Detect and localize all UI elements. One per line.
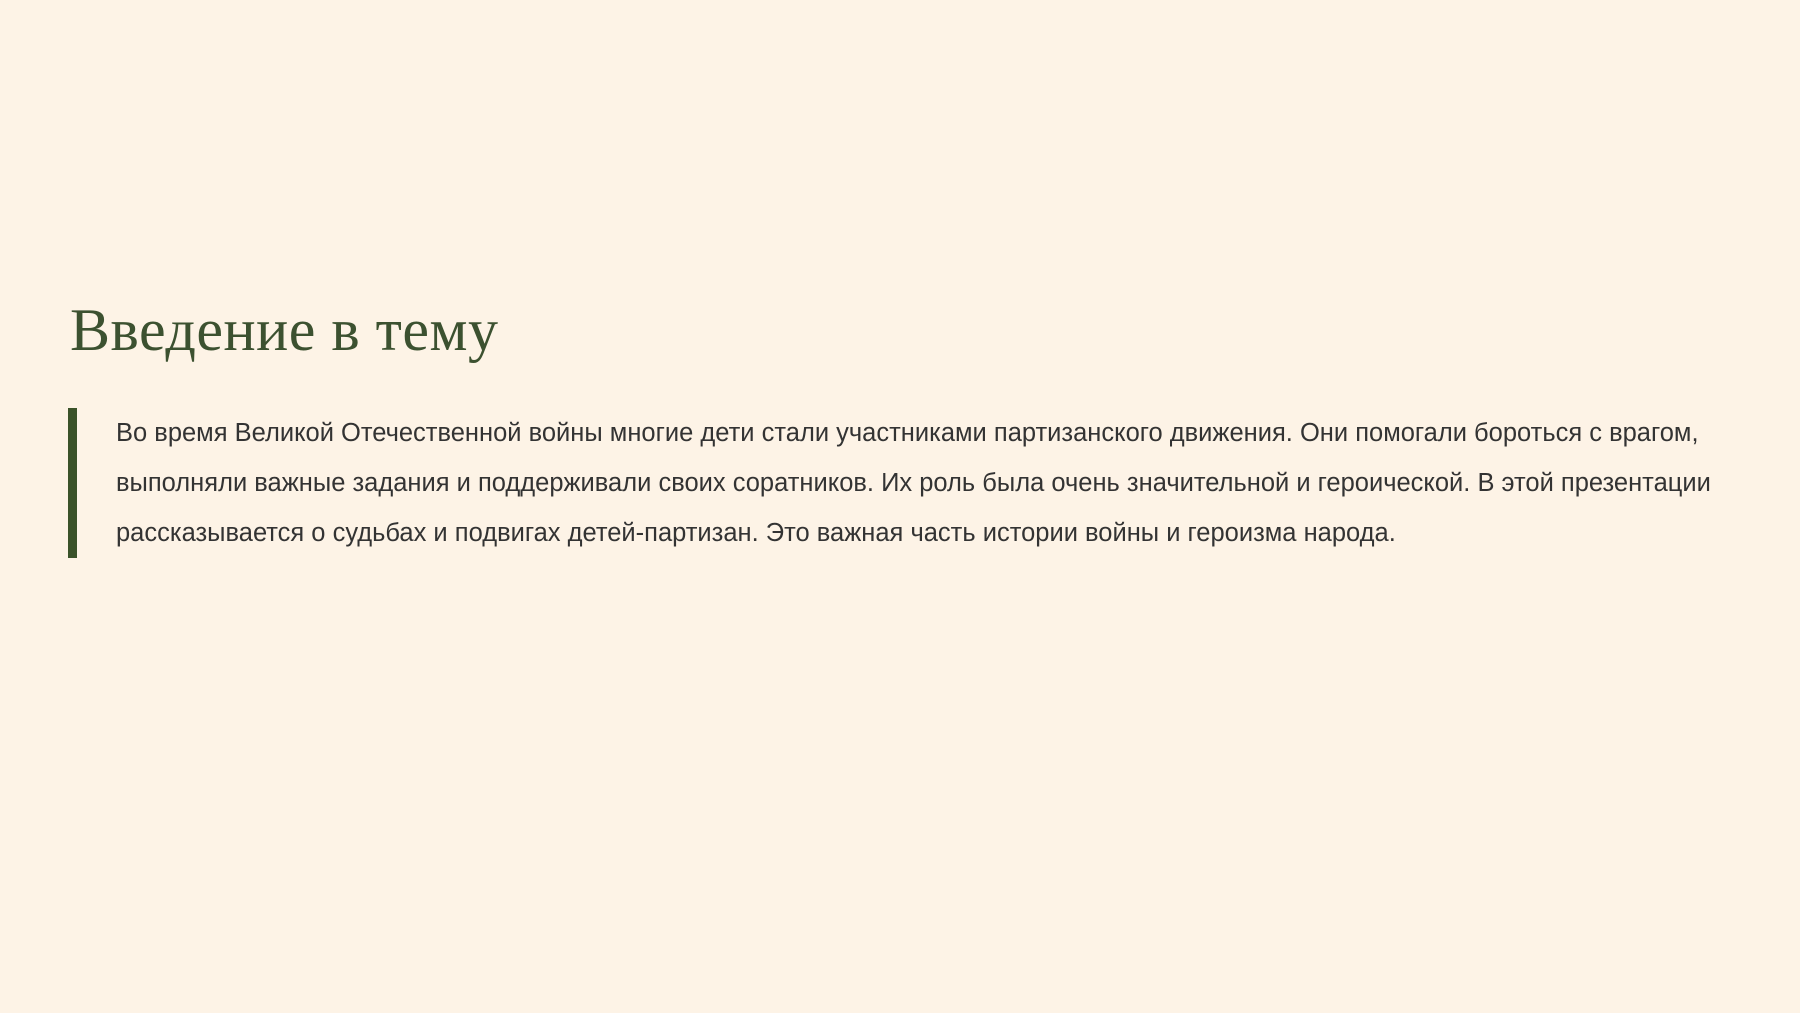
body-quote-block: Во время Великой Отечественной войны мно… <box>68 408 1768 558</box>
page-title: Введение в тему <box>70 300 1768 360</box>
slide-content: Введение в тему Во время Великой Отечест… <box>68 300 1768 558</box>
presentation-slide: Введение в тему Во время Великой Отечест… <box>0 0 1800 1013</box>
body-paragraph: Во время Великой Отечественной войны мно… <box>116 408 1768 558</box>
accent-bar <box>68 408 77 558</box>
